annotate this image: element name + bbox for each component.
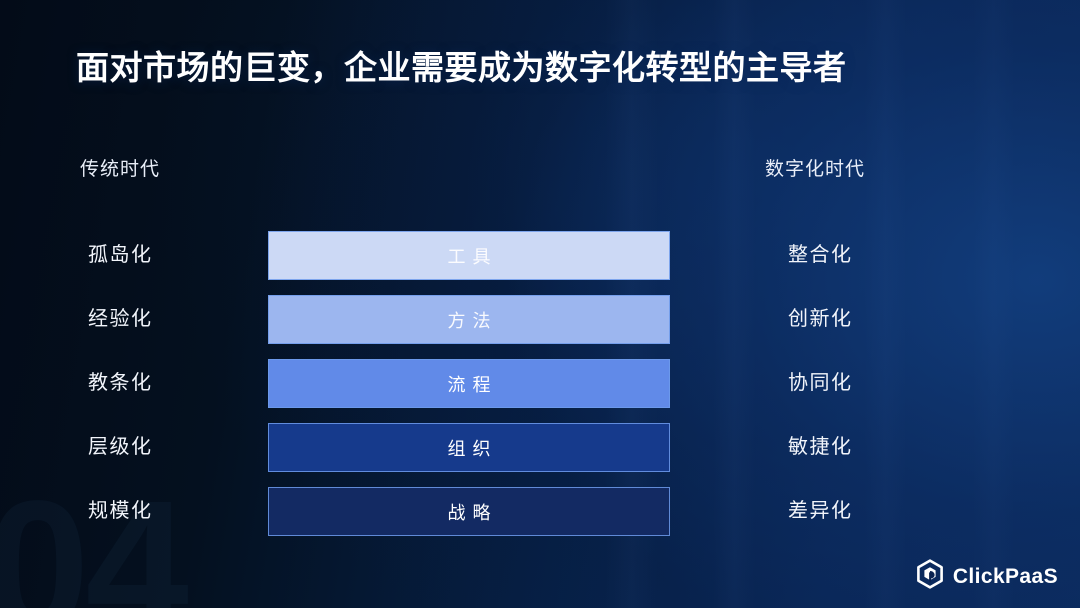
traditional-label: 经验化 xyxy=(88,295,153,344)
traditional-label: 教条化 xyxy=(88,359,153,408)
slide-title: 面对市场的巨变，企业需要成为数字化转型的主导者 xyxy=(76,41,847,89)
comparison-row: 规模化 战略 差异化 xyxy=(0,487,1080,551)
comparison-row: 孤岛化 工具 整合化 xyxy=(0,231,1080,295)
column-header-digital: 数字化时代 xyxy=(765,154,865,181)
column-header-traditional: 传统时代 xyxy=(80,154,160,181)
comparison-row: 层级化 组织 敏捷化 xyxy=(0,423,1080,487)
hexagon-cube-icon xyxy=(916,559,944,594)
digital-label: 创新化 xyxy=(788,295,853,344)
center-bar-label: 组织 xyxy=(441,435,498,461)
digital-label: 整合化 xyxy=(788,231,853,280)
traditional-label: 层级化 xyxy=(88,423,153,472)
slide-canvas: 04 面对市场的巨变，企业需要成为数字化转型的主导者 传统时代 数字化时代 孤岛… xyxy=(0,0,1080,608)
center-bar-label: 流程 xyxy=(441,371,498,397)
digital-label: 差异化 xyxy=(788,487,853,536)
digital-label: 敏捷化 xyxy=(788,423,853,472)
comparison-row: 经验化 方法 创新化 xyxy=(0,295,1080,359)
center-bar-label: 工具 xyxy=(441,243,498,269)
comparison-rows: 孤岛化 工具 整合化 经验化 方法 创新化 教条化 流程 协同化 层级化 xyxy=(0,231,1080,551)
center-bar-organization[interactable]: 组织 xyxy=(268,423,670,472)
traditional-label: 规模化 xyxy=(88,487,153,536)
center-bar-tool[interactable]: 工具 xyxy=(268,231,670,280)
center-bar-strategy[interactable]: 战略 xyxy=(268,487,670,536)
digital-label: 协同化 xyxy=(788,359,853,408)
center-bar-label: 方法 xyxy=(441,307,498,333)
comparison-row: 教条化 流程 协同化 xyxy=(0,359,1080,423)
center-bar-process[interactable]: 流程 xyxy=(268,359,670,408)
traditional-label: 孤岛化 xyxy=(88,231,153,280)
logo-text: ClickPaaS xyxy=(953,565,1058,589)
center-bar-method[interactable]: 方法 xyxy=(268,295,670,344)
clickpaas-logo: ClickPaaS xyxy=(916,559,1058,594)
center-bar-label: 战略 xyxy=(441,499,498,525)
